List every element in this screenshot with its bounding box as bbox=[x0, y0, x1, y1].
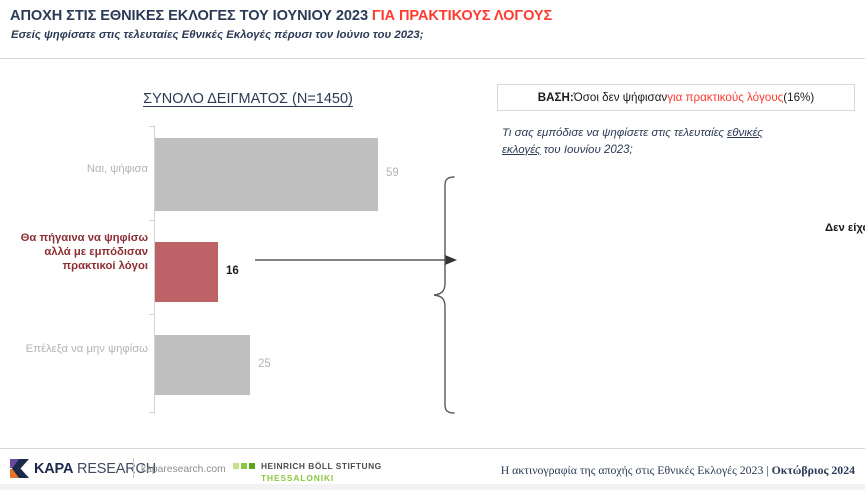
page-subtitle: Εσείς ψηφίσατε στις τελευταίες Εθνικές Ε… bbox=[11, 29, 424, 41]
kapa-brand-bold: KAPA bbox=[34, 461, 73, 477]
base-note-accent: για πρακτικούς λόγους bbox=[667, 91, 783, 104]
left-axis-tick bbox=[149, 220, 155, 221]
infographic-page: ΑΠΟΧΗ ΣΤΙΣ ΕΘΝΙΚΕΣ ΕΚΛΟΓΕΣ ΤΟΥ ΙΟΥΝΙΟΥ 2… bbox=[0, 0, 865, 490]
page-title-accent: ΓΙΑ ΠΡΑΚΤΙΚΟΥΣ ΛΟΓΟΥΣ bbox=[372, 8, 552, 24]
kapa-research-logo: KAPA RESEARCH bbox=[10, 459, 156, 478]
page-title: ΑΠΟΧΗ ΣΤΙΣ ΕΘΝΙΚΕΣ ΕΚΛΟΓΕΣ ΤΟΥ ΙΟΥΝΙΟΥ 2… bbox=[10, 8, 552, 24]
left-bar-value-0: 59 bbox=[386, 167, 399, 179]
footer-caption-date: Οκτώβριος 2024 bbox=[772, 463, 855, 477]
left-axis-tick bbox=[149, 126, 155, 127]
curly-brace bbox=[430, 175, 456, 415]
right-bar-label-4: Δεν είχα δικαίωμα ψήφου bbox=[470, 350, 865, 364]
left-bar-value-1: 16 bbox=[226, 265, 239, 277]
left-bar-0 bbox=[155, 138, 378, 211]
base-note-box: ΒΑΣΗ: Όσοι δεν ψήφισαν για πρακτικούς λό… bbox=[497, 84, 855, 111]
left-bar-label-2: Επέλεξα να μην ψηφίσω bbox=[0, 342, 148, 356]
base-note-text: Όσοι δεν ψήφισαν bbox=[574, 91, 667, 104]
heinrich-boll-city: THESSALONIKI bbox=[261, 473, 382, 483]
right-bar-label-3: Είχα πάει διακοπές bbox=[470, 310, 865, 324]
right-bar-label-5: Άλλος λόγος bbox=[470, 390, 865, 404]
base-note-suffix: (16%) bbox=[783, 91, 814, 104]
left-bar-1 bbox=[155, 242, 218, 302]
header-divider bbox=[0, 58, 865, 59]
question-text-b: του Ιουνίου 2023; bbox=[541, 144, 633, 156]
footer-caption: Η ακτινογραφία της αποχής στις Εθνικές Ε… bbox=[501, 463, 855, 478]
right-bar-label-2: Για λόγους υγείας bbox=[470, 268, 865, 282]
heinrich-boll-name: HEINRICH BÖLL STIFTUNG bbox=[261, 461, 382, 471]
right-bar-label-0: Ψηφίζω πολύ μακριά από τον τόπο κατοικία… bbox=[470, 179, 865, 193]
left-chart-heading: ΣΥΝΟΛΟ ΔΕΙΓΜΑΤΟΣ (Ν=1450) bbox=[88, 91, 408, 107]
footer-caption-text: Η ακτινογραφία της αποχής στις Εθνικές Ε… bbox=[501, 463, 772, 477]
left-bar-label-1: Θα πήγαινα να ψηφίσω αλλά με εμπόδισαν π… bbox=[0, 231, 148, 273]
question-text-u1: εθνικές bbox=[727, 127, 763, 139]
page-title-main: ΑΠΟΧΗ ΣΤΙΣ ΕΘΝΙΚΕΣ ΕΚΛΟΓΕΣ ΤΟΥ ΙΟΥΝΙΟΥ 2… bbox=[10, 8, 372, 24]
footer-bottom-strip bbox=[0, 484, 865, 490]
footer-logo-separator bbox=[133, 458, 134, 478]
right-bar-chart: Ψηφίζω πολύ μακριά από τον τόπο κατοικία… bbox=[470, 168, 865, 423]
left-axis-tick bbox=[149, 412, 155, 413]
right-chart-question: Τι σας εμπόδισε να ψηφίσετε στις τελευτα… bbox=[502, 125, 852, 159]
left-bar-value-2: 25 bbox=[258, 358, 271, 370]
kapa-wordmark: KAPA RESEARCH bbox=[34, 461, 156, 477]
left-bar-label-0: Ναι, ψήφισα bbox=[0, 162, 148, 176]
question-text-u2: εκλογές bbox=[502, 144, 541, 156]
left-bar-2 bbox=[155, 335, 250, 395]
kapa-k-icon bbox=[10, 459, 29, 478]
heinrich-boll-squares-icon bbox=[233, 463, 255, 469]
heinrich-boll-logo: HEINRICH BÖLL STIFTUNG THESSALONIKI bbox=[233, 461, 382, 483]
base-note-prefix: ΒΑΣΗ: bbox=[538, 91, 574, 104]
kapa-website-url[interactable]: kaparesearch.com bbox=[141, 464, 226, 475]
question-text-a: Τι σας εμπόδισε να ψηφίσετε στις τελευτα… bbox=[502, 127, 727, 139]
left-axis-tick bbox=[149, 314, 155, 315]
right-bar-label-1: Δεν είχα χρόνο – εργαζόμουν – είχα ανειλ… bbox=[470, 221, 865, 235]
